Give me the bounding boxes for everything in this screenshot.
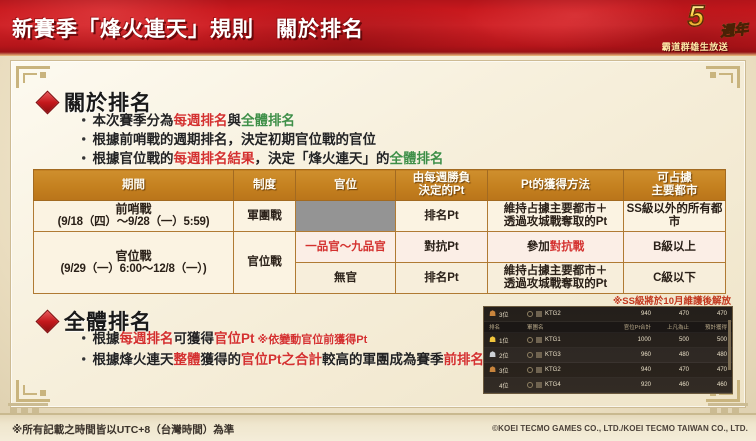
cell-rank-preliminary — [296, 201, 396, 232]
bullet-dot-icon: ・ — [77, 151, 91, 166]
cell-city-official-none: C級以下 — [624, 263, 726, 294]
bullet-dot-icon: ・ — [77, 113, 91, 128]
bullet-text-run: ，決定「烽火連天」的 — [255, 151, 390, 166]
leaderboard-until: 460 — [651, 382, 689, 388]
bullet-text-run: 較高的軍團成為賽季 — [322, 352, 444, 367]
leaderboard-row[interactable]: ☗2位KTG3960480480 — [484, 348, 732, 363]
bullet-text-run: ※依變動官位前獲得Pt — [255, 334, 368, 346]
cell-city-preliminary: SS級以外的所有都市 — [624, 201, 726, 232]
bullet-text-run: 根據 — [93, 331, 120, 346]
bullet-text-run: 與 — [228, 113, 242, 128]
leaderboard-col-rank: 排名 — [489, 323, 527, 331]
leaderboard-until: 500 — [651, 337, 689, 343]
leaderboard-pt-total: 1000 — [613, 337, 651, 343]
bullet-text-run: 整體 — [174, 352, 201, 367]
cell-rank-official-none: 無官 — [296, 263, 396, 294]
cell-system-preliminary: 軍團戰 — [234, 201, 296, 232]
legion-emblem-icon — [527, 311, 533, 317]
col-system: 制度 — [234, 170, 296, 201]
corner-ornament-bottom-left — [16, 380, 50, 402]
cell-period-official: 官位戰 (9/29（一）6:00～12/8（一）) — [34, 232, 234, 294]
cell-pt-method-official-none: 維持占據主要都市＋ 透過攻城戰奪取的Pt — [488, 263, 624, 294]
leaderboard-expected: 460 — [689, 382, 727, 388]
leaderboard-legion-cell: KTG1 — [527, 337, 613, 343]
corner-ornament-top-left — [16, 66, 50, 88]
anniversary-badge: 5 週年 霸道群雄生放送 — [640, 2, 752, 54]
diamond-bullet-icon — [35, 90, 59, 114]
cell-pt-method-official-high: 參加對抗戰 — [488, 232, 624, 263]
bullet-text-run: 前排名 — [444, 352, 485, 367]
trophy-icon: ☗ — [489, 351, 496, 359]
legion-emblem-icon — [527, 382, 533, 388]
leaderboard-row[interactable]: ☗1位KTG11000500500 — [484, 333, 732, 348]
slide-footer: ※所有記載之時間皆以UTC+8（台灣時間）為準 ©KOEI TECMO GAME… — [0, 413, 756, 441]
col-period: 期間 — [34, 170, 234, 201]
trophy-icon: ☗ — [489, 381, 496, 389]
leaderboard-pt-total: 940 — [613, 311, 651, 317]
bullet-item: ・根據官位戰的每週排名結果，決定「烽火連天」的全體排名 — [77, 149, 444, 168]
page-title: 新賽季「烽火連天」規則 關於排名 — [12, 13, 364, 43]
legion-flag-icon — [536, 311, 542, 317]
trophy-icon: ☗ — [489, 336, 496, 344]
anniversary-unit: 週年 — [719, 19, 749, 42]
leaderboard-until: 480 — [651, 352, 689, 358]
leaderboard-legion-cell: KTG2 — [527, 367, 613, 373]
bullet-item: ・根據前哨戰的週期排名，決定初期官位戰的官位 — [77, 130, 444, 149]
content-panel: 關於排名 ・本次賽季分為每週排名與全體排名・根據前哨戰的週期排名，決定初期官位戰… — [10, 60, 746, 408]
leaderboard-rank-cell: ☗2位 — [489, 351, 527, 360]
bullet-text-run: 全體排名 — [241, 113, 295, 128]
leaderboard-rank-cell: ☗3位 — [489, 366, 527, 375]
bullet-text-run: 每週排名 — [174, 113, 228, 128]
leaderboard-pt-total: 940 — [613, 367, 651, 373]
leaderboard-row[interactable]: ☗4位KTG4920460460 — [484, 378, 732, 393]
bullet-text-run: 每週排名 — [120, 331, 174, 346]
bullet-text-run: 根據官位戰的 — [93, 151, 174, 166]
leaderboard-pt-total: 960 — [613, 352, 651, 358]
leaderboard-rows: ☗1位KTG11000500500☗2位KTG3960480480☗3位KTG2… — [484, 333, 732, 393]
leaderboard-expected: 500 — [689, 337, 727, 343]
leaderboard-expected: 470 — [689, 311, 727, 317]
bullet-dot-icon: ・ — [77, 132, 91, 147]
slide-root: 新賽季「烽火連天」規則 關於排名 5 週年 霸道群雄生放送 關於排名 ・本次賽季… — [0, 0, 756, 441]
leaderboard-rank-value: 1位 — [499, 336, 508, 345]
footer-copyright: ©KOEI TECMO GAMES CO., LTD./KOEI TECMO T… — [492, 424, 748, 433]
leaderboard-header-row: 排名 軍團名 官位Pt合計 上凡為止 預計獲得 — [484, 322, 732, 333]
legion-flag-icon — [536, 382, 542, 388]
leaderboard-col-pt-total: 官位Pt合計 — [613, 323, 651, 331]
leaderboard-row[interactable]: ☗3位KTG2940470470 — [484, 363, 732, 378]
leaderboard-legion-cell: KTG3 — [527, 352, 613, 358]
leaderboard-pt-total: 920 — [613, 382, 651, 388]
cell-pt-official-none: 排名Pt — [396, 263, 488, 294]
cell-city-official-high: B級以上 — [624, 232, 726, 263]
leaderboard-legion-cell: KTG2 — [527, 311, 613, 317]
bullet-text-run: 根據前哨戰的週期排名，決定初期官位戰的官位 — [93, 132, 377, 147]
leaderboard-legion-name: KTG3 — [545, 352, 561, 358]
leaderboard-expected: 470 — [689, 367, 727, 373]
bullet-text-run: 獲得的 — [201, 352, 242, 367]
section2-bullet-list: ・根據每週排名可獲得官位Pt ※依變動官位前獲得Pt・根據烽火連天整體獲得的官位… — [77, 329, 484, 369]
legion-flag-icon — [536, 337, 542, 343]
bullet-text-run: 全體排名 — [390, 151, 444, 166]
bullet-text-run: 可獲得 — [174, 331, 215, 346]
leaderboard-legion-cell: KTG4 — [527, 382, 613, 388]
table-body: 前哨戰 (9/18（四）～9/28（一）5:59) 軍團戰 排名Pt 維持占據主… — [34, 201, 726, 294]
leaderboard-until: 470 — [651, 367, 689, 373]
legion-emblem-icon — [527, 352, 533, 358]
table-header-row: 期間 制度 官位 由每週勝負決定的Pt Pt的獲得方法 可占據主要都市 — [34, 170, 726, 201]
corner-ornament-top-right — [706, 66, 740, 88]
trophy-icon: ☗ — [489, 366, 496, 374]
leaderboard-col-expected: 預計獲得 — [689, 323, 727, 331]
cell-pt-official-high: 對抗Pt — [396, 232, 488, 263]
leaderboard-legion-name: KTG4 — [545, 382, 561, 388]
col-occupiable-city: 可占據主要都市 — [624, 170, 726, 201]
leaderboard-rank-cell: ☗1位 — [489, 336, 527, 345]
footer-ornament-left — [8, 403, 48, 413]
legion-flag-icon — [536, 367, 542, 373]
col-rank-title: 官位 — [296, 170, 396, 201]
leaderboard-col-legion: 軍團名 — [527, 323, 613, 331]
col-pt-method: Pt的獲得方法 — [488, 170, 624, 201]
ss-release-note: ※SS級將於10月維護後解放 — [613, 293, 731, 307]
leaderboard-until: 470 — [651, 311, 689, 317]
leaderboard-rank-value: 2位 — [499, 351, 508, 360]
leaderboard-rank-cell: ☗4位 — [489, 381, 527, 390]
bullet-text-run: 本次賽季分為 — [93, 113, 174, 128]
leaderboard-legion-name: KTG1 — [545, 337, 561, 343]
leaderboard-legion-name: KTG2 — [545, 367, 561, 373]
section1-bullet-list: ・本次賽季分為每週排名與全體排名・根據前哨戰的週期排名，決定初期官位戰的官位・根… — [77, 111, 444, 168]
slide-header: 新賽季「烽火連天」規則 關於排名 5 週年 霸道群雄生放送 — [0, 0, 756, 56]
anniversary-tagline: 霸道群雄生放送 — [640, 40, 750, 53]
legion-flag-icon — [536, 352, 542, 358]
trophy-icon: ☗ — [489, 310, 496, 318]
leaderboard-top-row: ☗ 3位 KTG2 940 470 470 — [484, 307, 732, 322]
leaderboard-rank-value: 4位 — [499, 381, 508, 390]
diamond-bullet-icon-2 — [35, 309, 59, 333]
bullet-dot-icon: ・ — [77, 352, 91, 367]
cell-period-preliminary: 前哨戰 (9/18（四）～9/28（一）5:59) — [34, 201, 234, 232]
cell-rank-official-high: 一品官～九品官 — [296, 232, 396, 263]
anniversary-number: 5 — [686, 2, 707, 32]
leaderboard-rank-cell: ☗ 3位 — [489, 310, 527, 319]
cell-system-official: 官位戰 — [234, 232, 296, 294]
leaderboard-expected: 480 — [689, 352, 727, 358]
bullet-text-run: 官位Pt — [214, 331, 255, 346]
bullet-item: ・本次賽季分為每週排名與全體排名 — [77, 111, 444, 130]
leaderboard-scrollbar[interactable] — [728, 320, 731, 370]
rules-table: 期間 制度 官位 由每週勝負決定的Pt Pt的獲得方法 可占據主要都市 前哨戰 … — [33, 169, 726, 294]
cell-pt-method-preliminary: 維持占據主要都市＋ 透過攻城戰奪取的Pt — [488, 201, 624, 232]
bullet-dot-icon: ・ — [77, 331, 91, 346]
bullet-item: ・根據每週排名可獲得官位Pt ※依變動官位前獲得Pt — [77, 329, 484, 350]
ranking-leaderboard-panel[interactable]: ☗ 3位 KTG2 940 470 470 排名 軍團名 官位Pt合計 上凡為止… — [483, 306, 733, 394]
cell-pt-preliminary: 排名Pt — [396, 201, 488, 232]
footer-ornament-right — [708, 403, 748, 413]
table-row-official-rank-a: 官位戰 (9/29（一）6:00～12/8（一）) 官位戰 一品官～九品官 對抗… — [34, 232, 726, 263]
legion-emblem-icon — [527, 337, 533, 343]
bullet-text-run: 官位Pt之合計 — [241, 352, 322, 367]
bullet-text-run: 每週排名結果 — [174, 151, 255, 166]
bullet-item: ・根據烽火連天整體獲得的官位Pt之合計較高的軍團成為賽季前排名 — [77, 350, 484, 369]
bullet-text-run: 根據烽火連天 — [93, 352, 174, 367]
footer-note: ※所有記載之時間皆以UTC+8（台灣時間）為準 — [12, 422, 234, 437]
col-weekly-pt: 由每週勝負決定的Pt — [396, 170, 488, 201]
table-row-preliminary: 前哨戰 (9/18（四）～9/28（一）5:59) 軍團戰 排名Pt 維持占據主… — [34, 201, 726, 232]
leaderboard-rank-value: 3位 — [499, 366, 508, 375]
legion-emblem-icon — [527, 367, 533, 373]
leaderboard-col-until: 上凡為止 — [651, 323, 689, 331]
